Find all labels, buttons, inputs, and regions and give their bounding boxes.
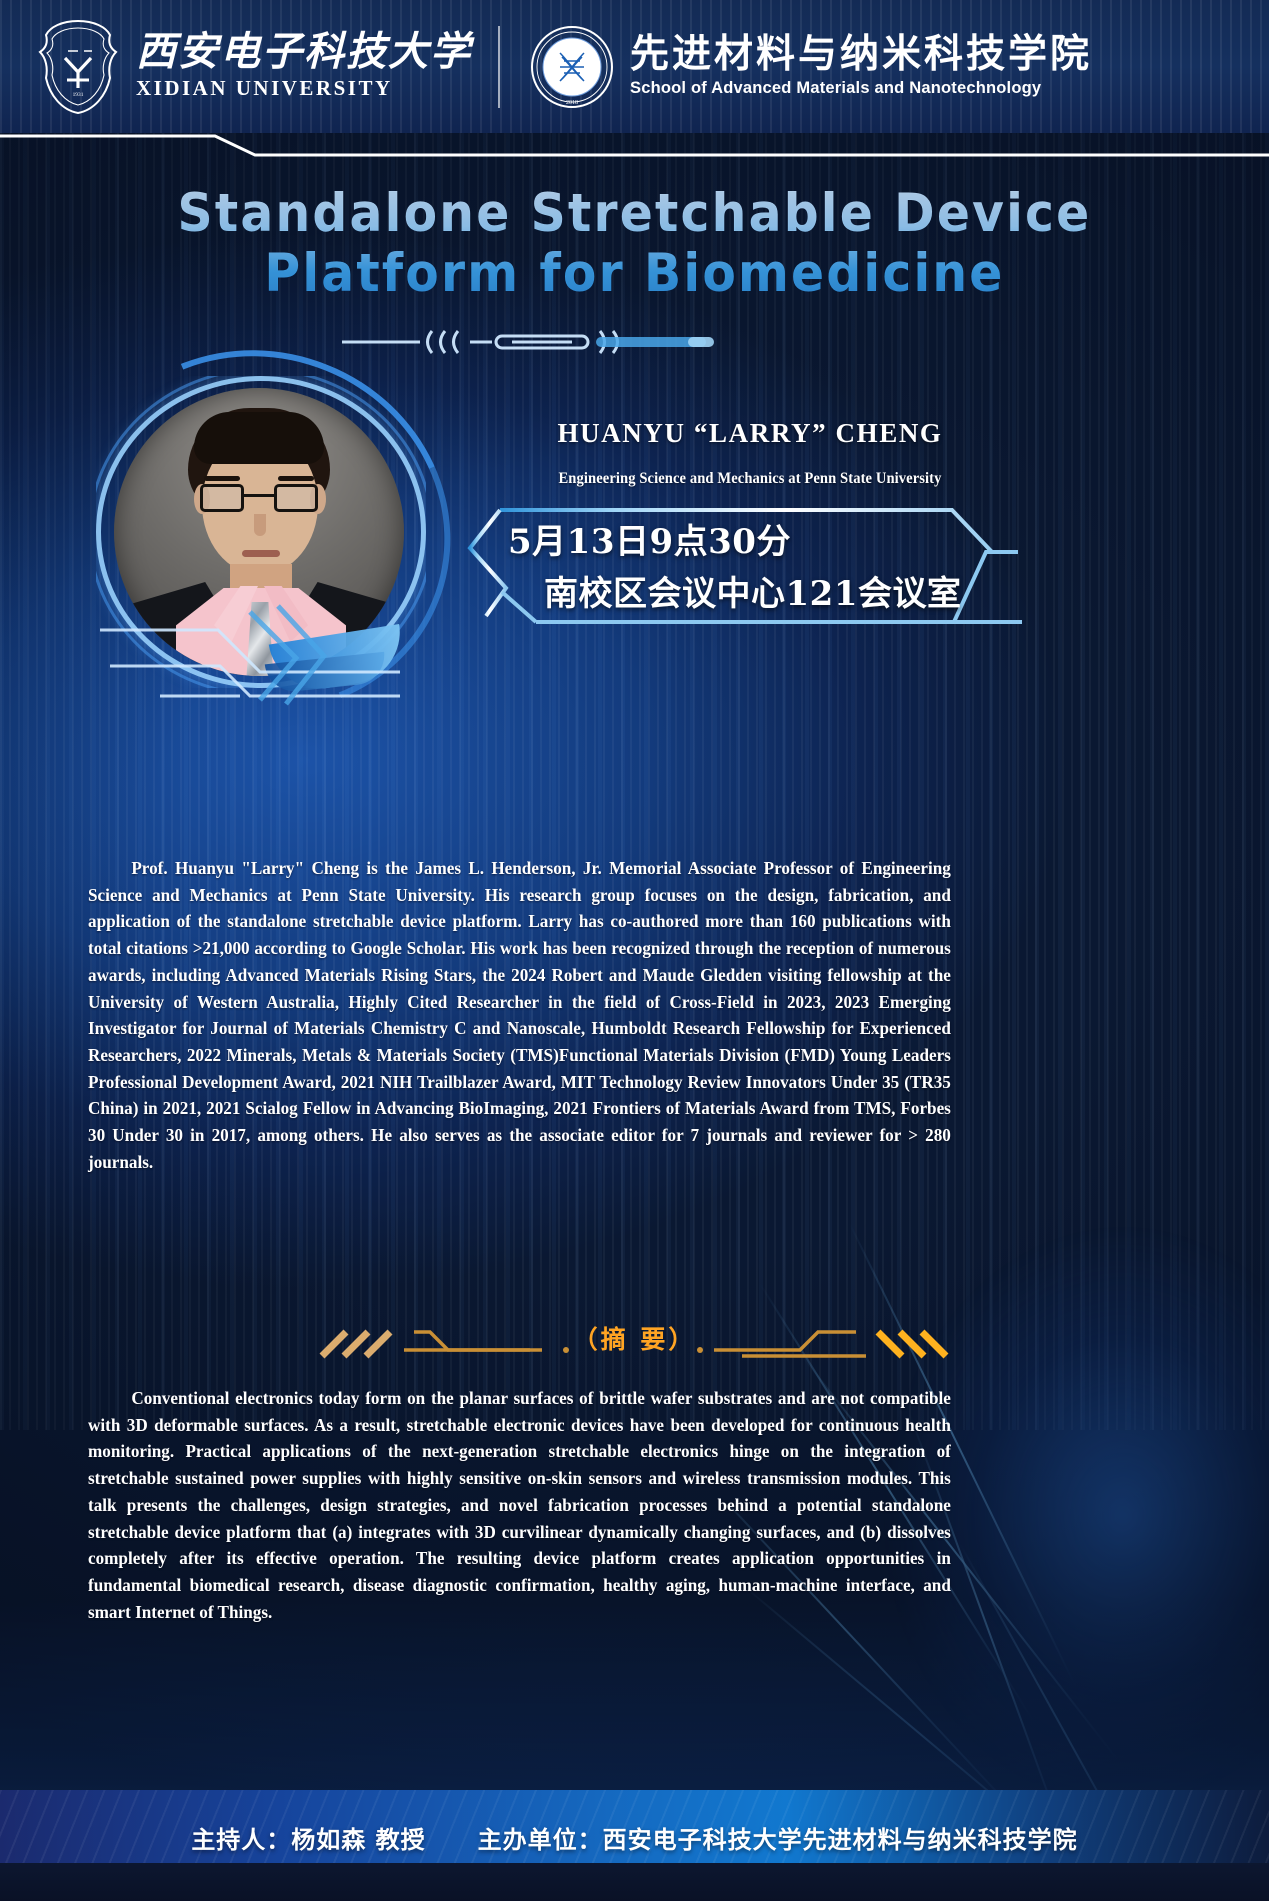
school-name-en: School of Advanced Materials and Nanotec… xyxy=(630,79,1092,98)
university-logo-block: 1931 西安电子科技大学 XIDIAN UNIVERSITY xyxy=(34,18,472,116)
header-corner-rule xyxy=(0,133,1269,159)
title-ornament xyxy=(0,325,1269,359)
footer-organizer: 主办单位：西安电子科技大学先进材料与纳米科技学院 xyxy=(478,1820,1078,1855)
speaker-name: HUANYU “LARRY” CHENG xyxy=(470,418,1030,449)
school-name-zh: 先进材料与纳米科技学院 xyxy=(630,35,1092,76)
poster-header: 1931 西安电子科技大学 XIDIAN UNIVERSITY xyxy=(0,0,1269,133)
poster-root: 1931 西安电子科技大学 XIDIAN UNIVERSITY xyxy=(0,0,1269,1901)
event-venue: 南校区会议中心121会议室 xyxy=(544,566,1022,615)
header-divider xyxy=(498,26,500,108)
page-title: Standalone Stretchable Device Platform f… xyxy=(51,184,1218,305)
title-line-1: Standalone Stretchable Device xyxy=(51,184,1218,244)
title-line-2: Platform for Biomedicine xyxy=(51,244,1218,304)
svg-text:1931: 1931 xyxy=(73,92,84,98)
event-details-plate: 5月13日9点30分 南校区会议中心121会议室 xyxy=(466,504,1022,630)
abstract-label: （摘 要） xyxy=(0,1320,1269,1356)
footer-host: 主持人：杨如森 教授 xyxy=(191,1820,425,1855)
school-seal-icon: 2018 xyxy=(530,25,614,109)
speaker-affiliation: Engineering Science and Mechanics at Pen… xyxy=(487,470,1013,488)
speaker-bio: Prof. Huanyu "Larry" Cheng is the James … xyxy=(88,855,951,1175)
event-date: 5月13日9点30分 xyxy=(508,514,1022,563)
abstract-body: Conventional electronics today form on t… xyxy=(88,1385,951,1625)
svg-text:2018: 2018 xyxy=(566,100,578,106)
university-crest-icon: 1931 xyxy=(34,18,122,116)
footer-bottom-bar xyxy=(0,1863,1269,1901)
university-name-en: XIDIAN UNIVERSITY xyxy=(136,76,472,101)
university-name-zh: 西安电子科技大学 xyxy=(136,32,472,73)
poster-footer: 主持人：杨如森 教授 主办单位：西安电子科技大学先进材料与纳米科技学院 xyxy=(0,1790,1269,1901)
abstract-text: Conventional electronics today form on t… xyxy=(88,1388,951,1622)
circuit-decoration xyxy=(100,596,520,746)
speaker-bio-text: Prof. Huanyu "Larry" Cheng is the James … xyxy=(88,858,951,1172)
